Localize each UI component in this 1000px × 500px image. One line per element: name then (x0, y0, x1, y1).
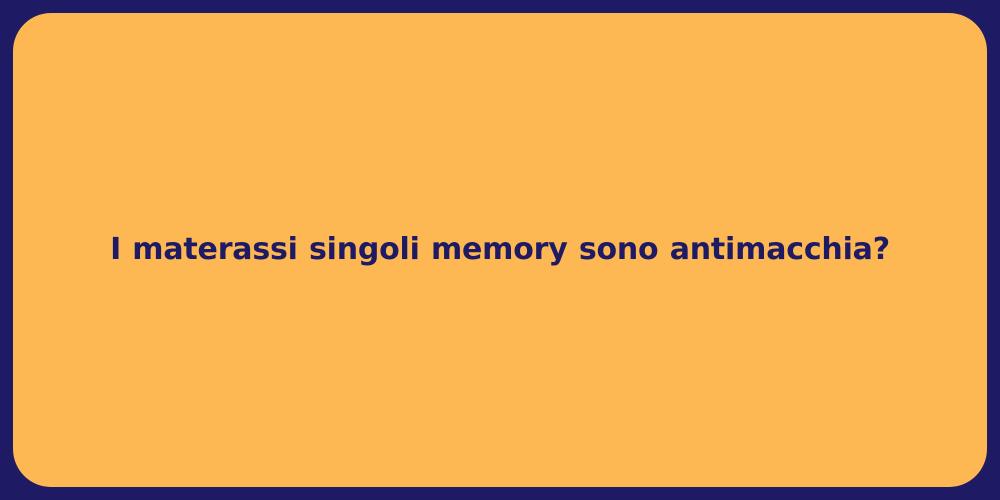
card-heading: I materassi singoli memory sono antimacc… (110, 231, 890, 269)
card-panel: I materassi singoli memory sono antimacc… (13, 13, 987, 487)
card-frame: I materassi singoli memory sono antimacc… (0, 0, 1000, 500)
